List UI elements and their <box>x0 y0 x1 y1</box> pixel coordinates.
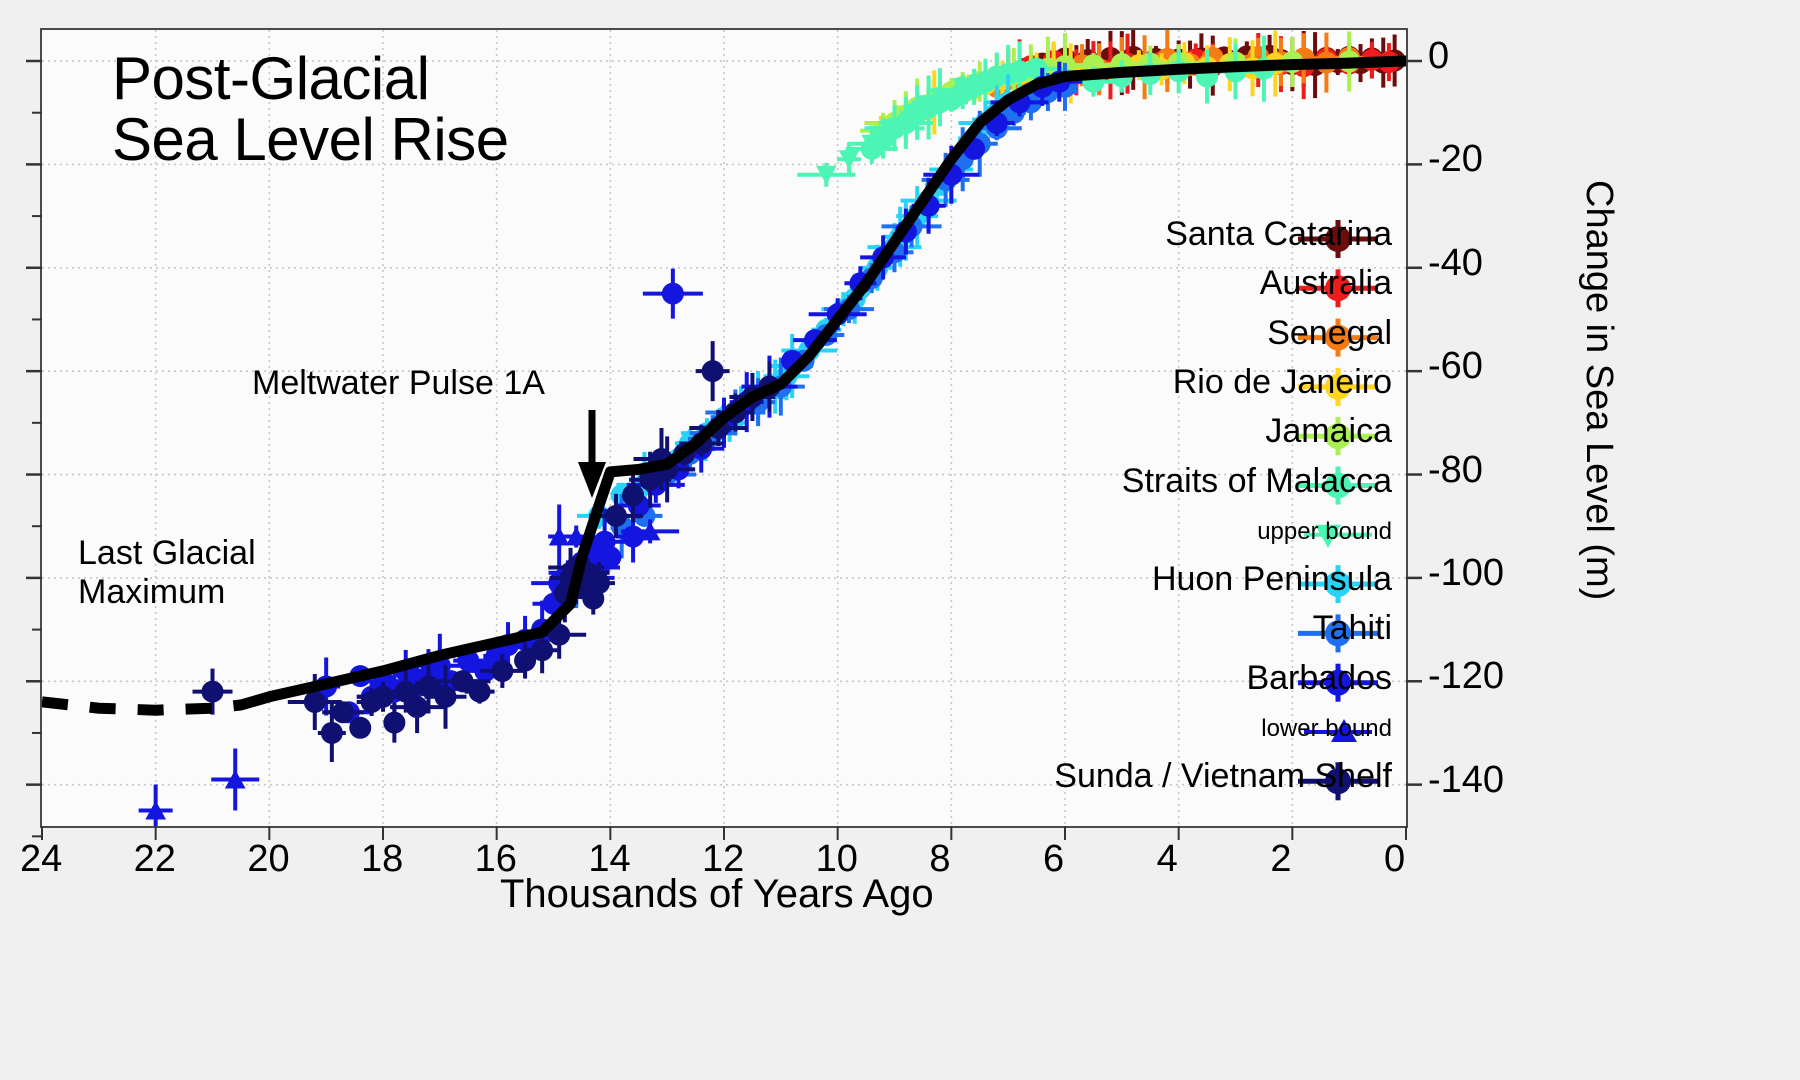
legend-item-senegal[interactable]: Senegal <box>1267 314 1392 353</box>
figure-canvas: Post-GlacialSea Level Rise Last GlacialM… <box>0 0 1800 1080</box>
legend-item-lower-bound[interactable]: lower bound <box>1261 715 1392 743</box>
y-tick-label: -20 <box>1428 138 1483 181</box>
y-tick-label: -120 <box>1428 655 1504 698</box>
x-tick-label: 14 <box>588 838 630 881</box>
x-tick-label: 8 <box>929 838 950 881</box>
legend-item-jamaica[interactable]: Jamaica <box>1265 412 1392 451</box>
x-tick-label: 24 <box>20 838 62 881</box>
title-line-2: Sea Level Rise <box>112 106 509 173</box>
x-tick-label: 18 <box>361 838 403 881</box>
legend-item-barbados[interactable]: Barbados <box>1246 659 1392 698</box>
legend-item-tahiti[interactable]: Tahiti <box>1313 609 1392 648</box>
y-tick-label: -60 <box>1428 345 1483 388</box>
x-tick-label: 6 <box>1043 838 1064 881</box>
x-tick-label: 2 <box>1270 838 1291 881</box>
legend-item-upper-bound[interactable]: upper bound <box>1257 518 1392 546</box>
lgm-line-1: Last Glacial <box>78 534 256 572</box>
x-tick-label: 0 <box>1384 838 1405 881</box>
legend-item-rio-de-janeiro[interactable]: Rio de Janeiro <box>1173 363 1392 402</box>
lgm-line-2: Maximum <box>78 573 225 611</box>
x-tick-label: 22 <box>134 838 176 881</box>
y-tick-label: -140 <box>1428 759 1504 802</box>
x-tick-label: 4 <box>1157 838 1178 881</box>
annotation-meltwater-pulse: Meltwater Pulse 1A <box>252 364 545 403</box>
annotation-last-glacial-maximum: Last GlacialMaximum <box>78 534 256 612</box>
page-title: Post-GlacialSea Level Rise <box>112 48 509 170</box>
legend-item-huon-peninsula[interactable]: Huon Peninsula <box>1152 560 1392 599</box>
y-tick-label: -100 <box>1428 552 1504 595</box>
x-tick-label: 10 <box>816 838 858 881</box>
chart-root: Post-GlacialSea Level Rise Last GlacialM… <box>0 0 1800 1080</box>
legend-item-santa-catarina[interactable]: Santa Catarina <box>1165 215 1392 254</box>
legend-item-straits-of-malacca[interactable]: Straits of Malacca <box>1122 462 1392 501</box>
y-axis-label: Change in Sea Level (m) <box>1577 180 1620 600</box>
legend-item-sunda-vietnam-shelf[interactable]: Sunda / Vietnam Shelf <box>1054 757 1392 796</box>
x-tick-label: 20 <box>247 838 289 881</box>
title-line-1: Post-Glacial <box>112 45 429 112</box>
y-tick-label: 0 <box>1428 35 1449 78</box>
x-tick-label: 12 <box>702 838 744 881</box>
x-tick-label: 16 <box>475 838 517 881</box>
legend-item-australia[interactable]: Australia <box>1260 264 1392 303</box>
y-tick-label: -80 <box>1428 449 1483 492</box>
y-tick-label: -40 <box>1428 242 1483 285</box>
